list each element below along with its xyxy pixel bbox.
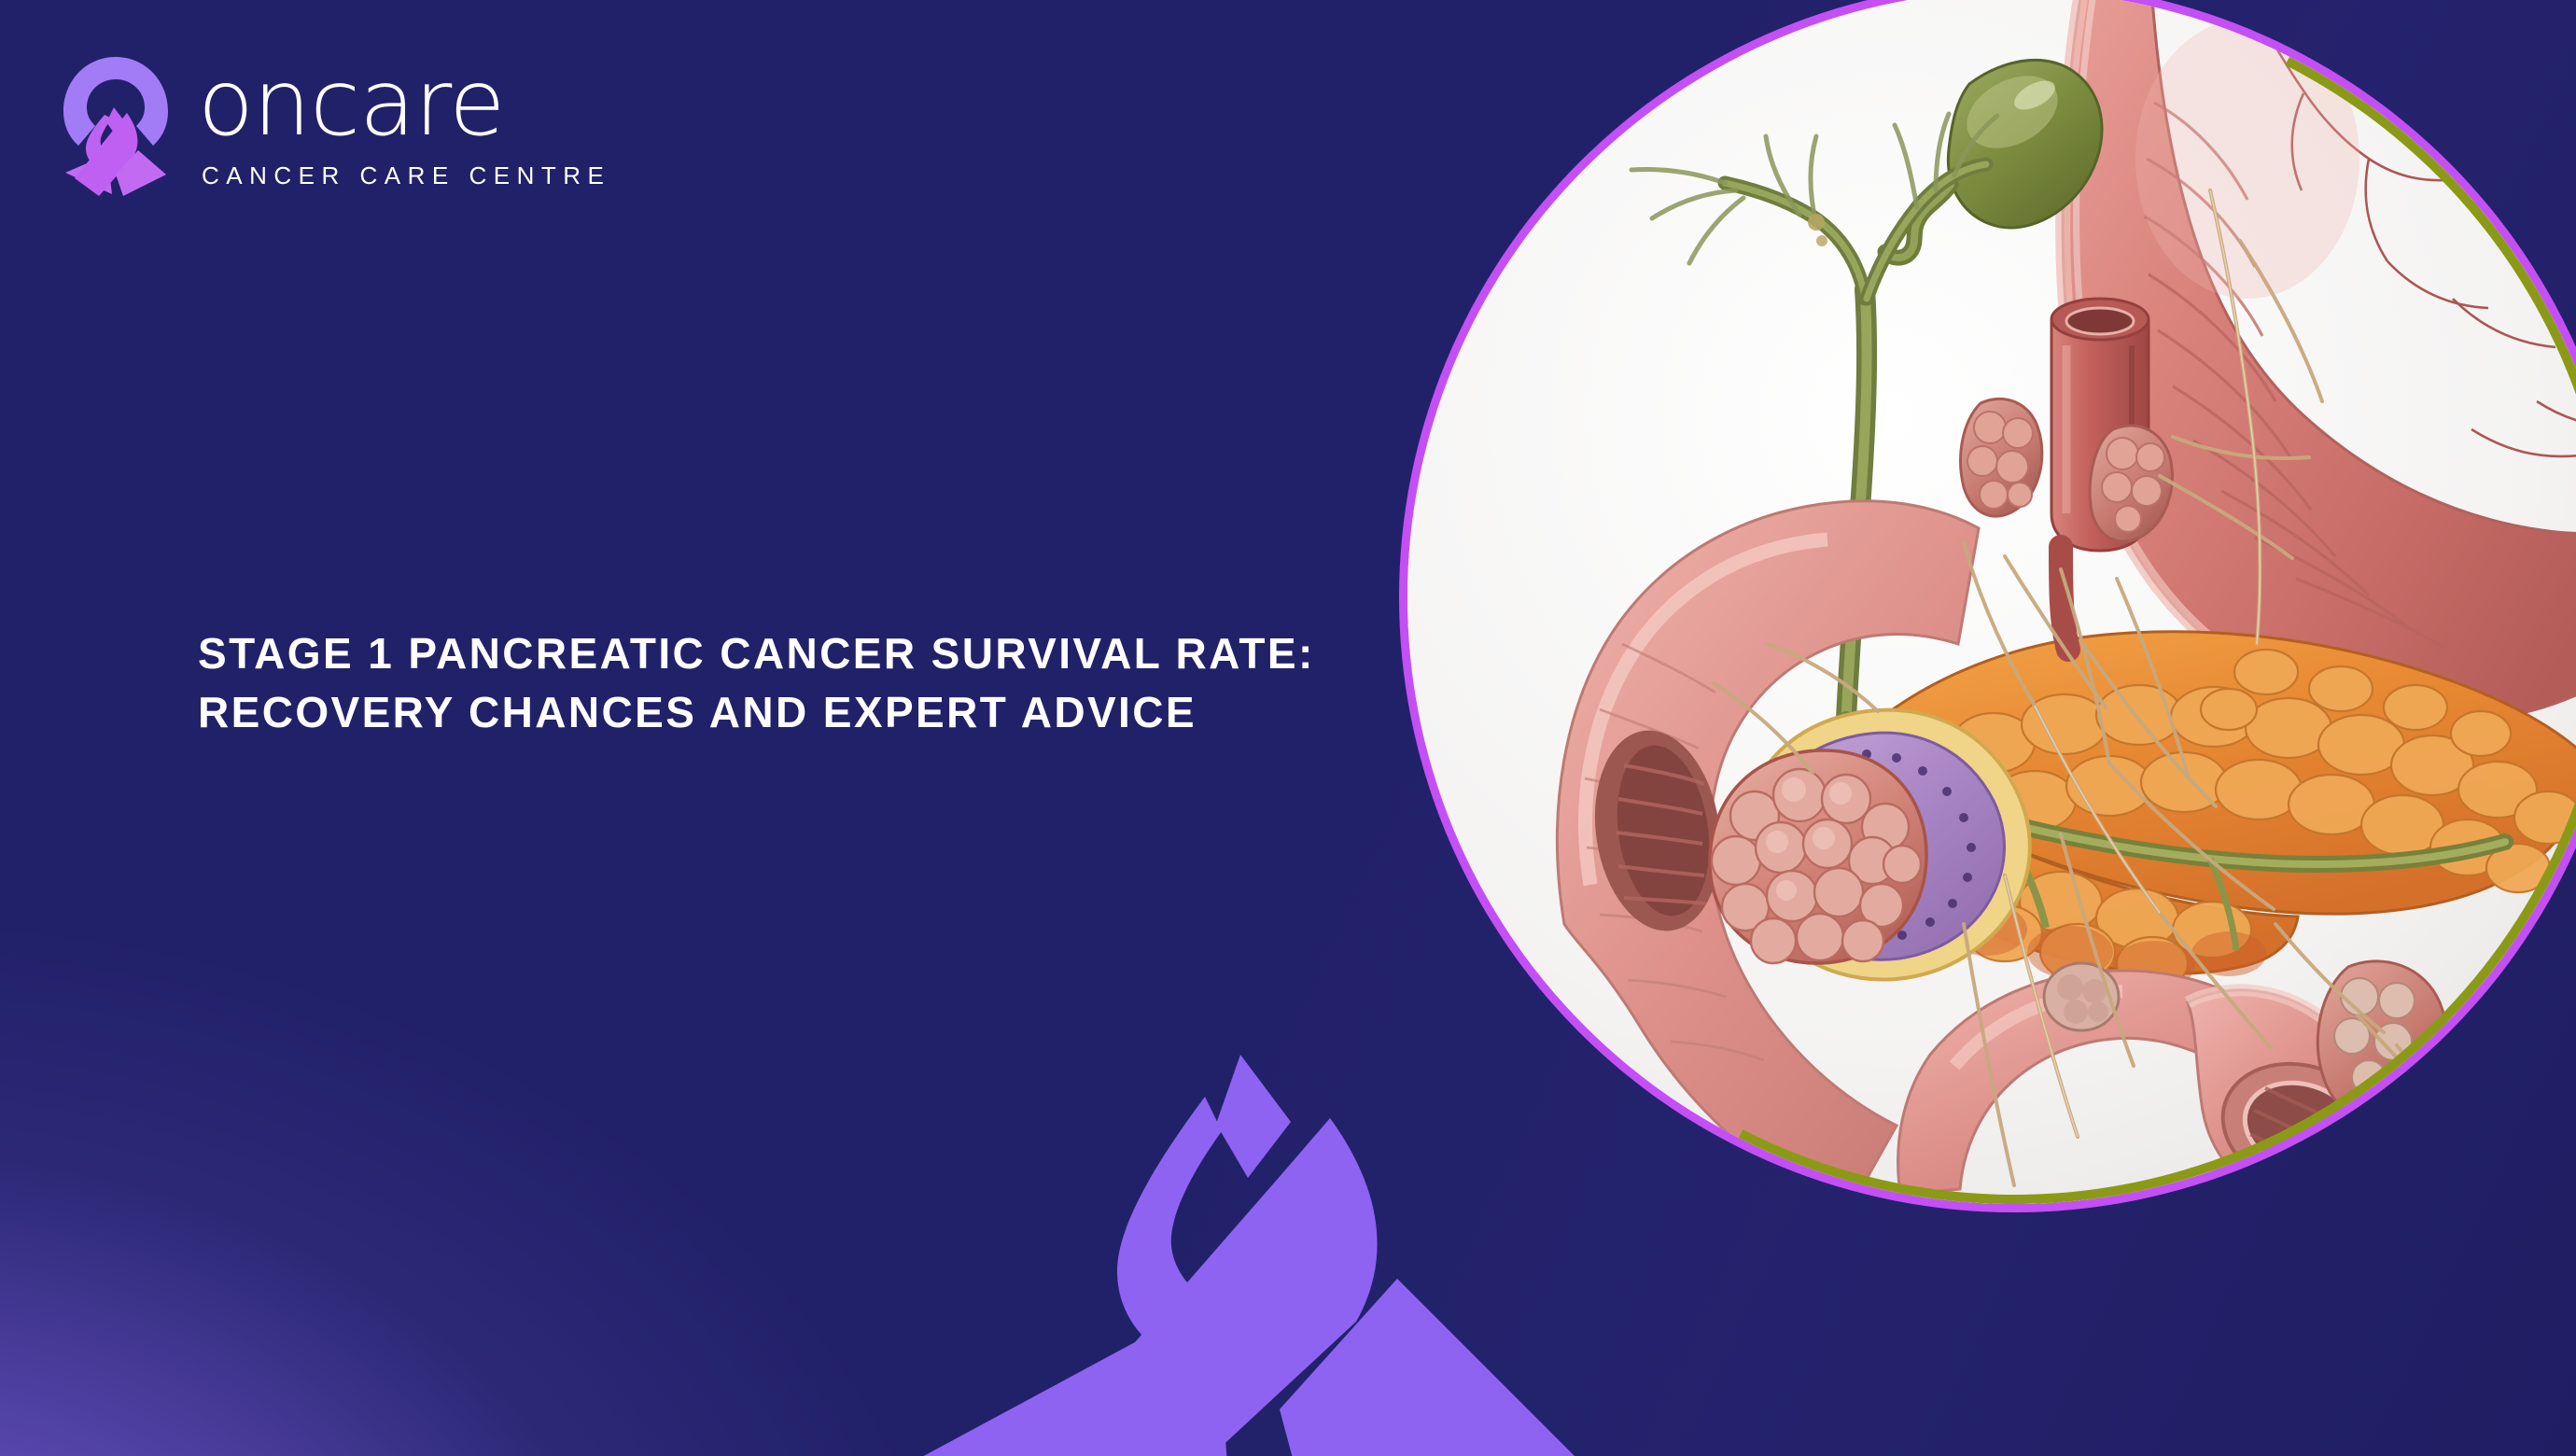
page-title-line-1: Stage 1 Pancreatic Cancer Survival Rate: [198,624,1346,683]
brand-logo[interactable]: oncare CANCER CARE CENTRE [58,51,610,201]
pancreas-anatomy-illustration [1407,0,2576,1204]
page-title-line-2: Recovery Chances and Expert Advice [198,683,1346,742]
poster-canvas: oncare CANCER CARE CENTRE Stage 1 Pancre… [0,0,2576,1456]
awareness-ribbon-icon [58,51,174,201]
brand-logotype: oncare CANCER CARE CENTRE [198,62,610,190]
page-title: Stage 1 Pancreatic Cancer Survival Rate:… [198,624,1346,743]
brand-wordmark: oncare [198,62,610,147]
brand-tagline: CANCER CARE CENTRE [202,161,610,190]
hero-illustration-circle [1407,0,2576,1204]
